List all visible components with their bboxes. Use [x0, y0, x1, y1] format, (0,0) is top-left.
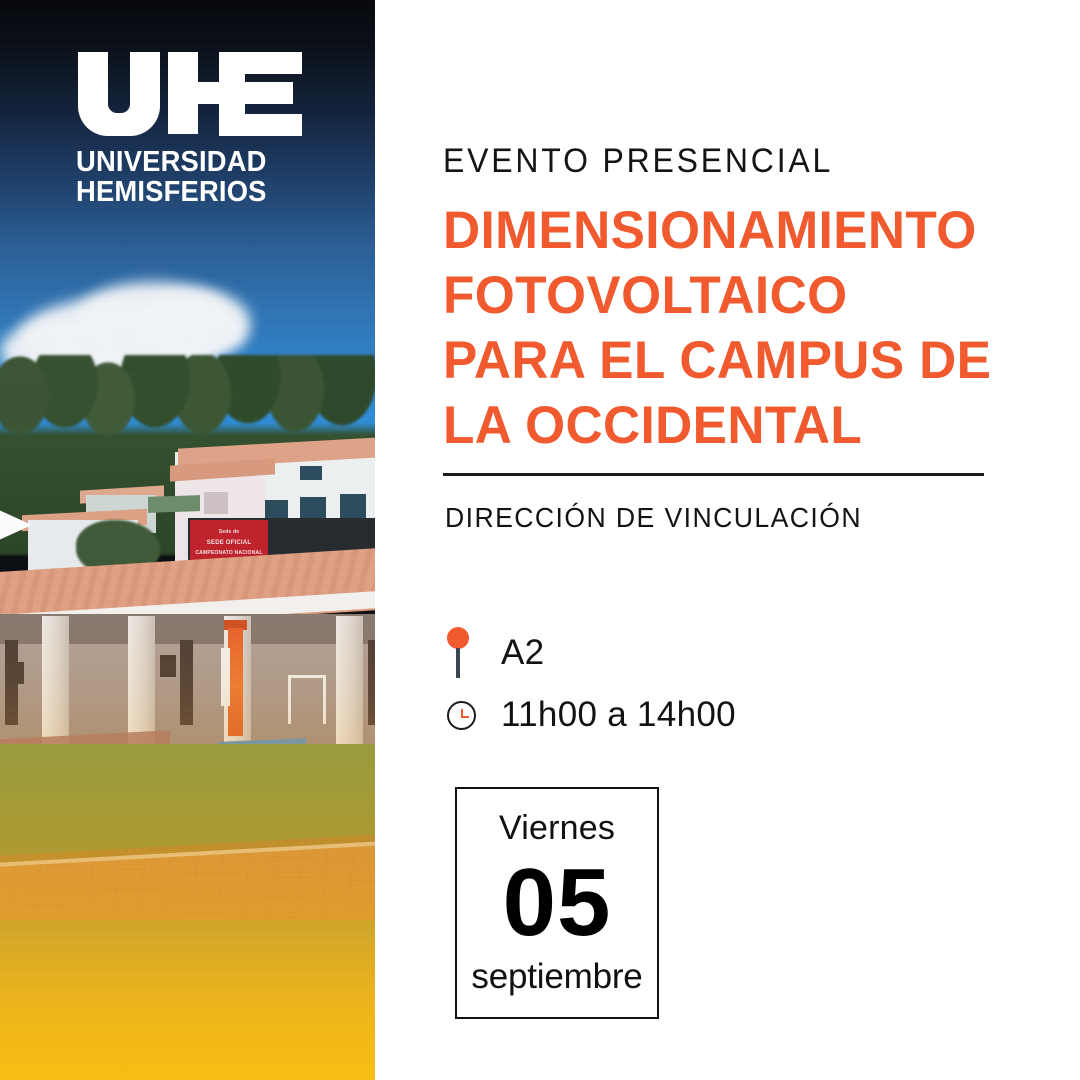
window: [300, 466, 322, 480]
lawn-lower: [0, 920, 375, 1080]
pillar: [42, 616, 69, 744]
detail-row-location: A2: [443, 622, 983, 684]
logo-name-line-1: UNIVERSIDAD: [76, 147, 299, 177]
title-line-4: LA OCCIDENTAL: [443, 393, 1025, 458]
white-tent-shape: [0, 495, 32, 555]
pillar: [128, 616, 155, 744]
clock-minute-hand: [461, 716, 469, 719]
sign-line-2: SEDE OFICIAL: [190, 540, 268, 547]
campus-photo-panel: Sede de SEDE OFICIAL CAMPEONATO NACIONAL: [0, 0, 375, 1080]
logo-name-line-2: HEMISFERIOS: [76, 177, 299, 207]
banner-white-panel: [221, 648, 230, 706]
date-badge: Viernes 05 septiembre: [455, 787, 659, 1019]
pillar: [336, 616, 363, 744]
wall-plaque: [160, 655, 176, 677]
sign-line-1: Sede de: [190, 529, 268, 536]
wall-plaque: [8, 662, 24, 684]
detail-row-time: 11h00 a 14h00: [443, 684, 983, 746]
doorway: [368, 640, 375, 725]
doorway: [180, 640, 193, 725]
title-line-3: PARA EL CAMPUS DE: [443, 328, 1025, 393]
event-content: EVENTO PRESENCIAL DIMENSIONAMIENTO FOTOV…: [443, 0, 1043, 1080]
window: [340, 494, 366, 519]
rollup-banner: [228, 628, 243, 736]
pin-stem: [456, 648, 460, 678]
date-day-number: 05: [457, 851, 657, 955]
location-pin-icon: [443, 627, 501, 679]
title-divider: [443, 473, 984, 476]
clock-face: [447, 701, 476, 730]
title-line-1: DIMENSIONAMIENTO: [443, 198, 1025, 263]
cloud-shape: [150, 310, 245, 356]
time-label: 11h00 a 14h00: [501, 695, 736, 735]
uhe-logo: UNIVERSIDAD HEMISFERIOS: [76, 48, 308, 207]
uhe-wordmark-icon: [76, 48, 304, 138]
pin-shape: [447, 627, 469, 679]
date-weekday: Viernes: [457, 809, 657, 847]
green-roof: [148, 495, 200, 513]
metal-rail: [288, 675, 326, 724]
event-poster: Sede de SEDE OFICIAL CAMPEONATO NACIONAL: [0, 0, 1080, 1080]
event-kicker: EVENTO PRESENCIAL: [443, 141, 833, 181]
event-title: DIMENSIONAMIENTO FOTOVOLTAICO PARA EL CA…: [443, 198, 1025, 458]
clock-icon: [443, 701, 501, 730]
pin-head: [447, 627, 469, 649]
title-line-2: FOTOVOLTAICO: [443, 263, 1025, 328]
date-month: septiembre: [451, 957, 663, 997]
window: [204, 492, 228, 514]
organizing-department: DIRECCIÓN DE VINCULACIÓN: [445, 501, 862, 535]
location-label: A2: [501, 633, 544, 673]
event-details: A2 11h00 a 14h00: [443, 622, 983, 746]
